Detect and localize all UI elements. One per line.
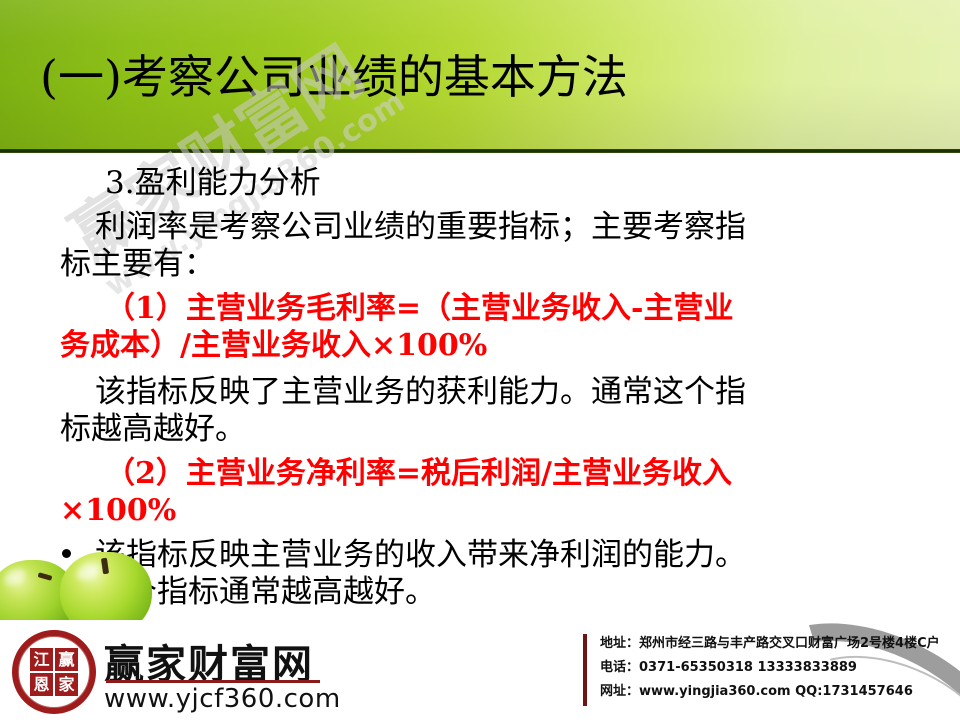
contact-label-website: 网址：	[600, 684, 639, 699]
contact-label-address: 地址：	[600, 636, 639, 651]
seal-char-2: 赢	[55, 648, 78, 671]
explain-1-line-2: 标越高越好。	[60, 412, 246, 446]
contact-row-phone: 电话：0371-65350318 13333833889	[600, 656, 960, 680]
contact-row-website: 网址：www.yingjia360.com QQ:1731457646	[600, 680, 960, 704]
contact-value-address: 郑州市经三路与丰产路交叉口财富广场2号楼4楼C户	[639, 636, 940, 651]
formula-2-line-2: ×100%	[60, 494, 176, 528]
seal-char-3: 恩	[30, 673, 53, 696]
page-title: (一)考察公司业绩的基本方法	[40, 48, 628, 106]
brand-website[interactable]: www.yjcf360.com	[104, 684, 341, 714]
contact-label-phone: 电话：	[600, 660, 639, 675]
contact-value-website[interactable]: www.yingjia360.com QQ:1731457646	[639, 684, 913, 699]
explain-1-line-1: 该指标反映了主营业务的获利能力。通常这个指	[95, 375, 746, 409]
contact-value-phone: 0371-65350318 13333833889	[639, 660, 857, 675]
presentation-slide: (一)考察公司业绩的基本方法 赢家财富网 www.yingjia360.com …	[0, 0, 960, 720]
formula-1-line-2: 务成本）/主营业务收入×100%	[60, 329, 487, 363]
formula-2-line-1: （2）主营业务净利率=税后利润/主营业务收入	[105, 457, 732, 491]
body-line-intro-1: 利润率是考察公司业绩的重要指标；主要考察指	[95, 210, 746, 244]
explain-2-line-1: 该指标反映主营业务的收入带来净利润的能力。	[95, 538, 746, 572]
brand-underline-rule	[106, 680, 320, 683]
seal-char-4: 家	[55, 673, 78, 696]
contact-divider-bar	[583, 634, 587, 706]
seal-char-1: 江	[30, 648, 53, 671]
contact-row-address: 地址：郑州市经三路与丰产路交叉口财富广场2号楼4楼C户	[600, 632, 960, 656]
apple-decoration-image	[0, 548, 170, 628]
body-line-heading: 3.盈利能力分析	[105, 166, 321, 200]
company-seal-logo: 江 赢 恩 家	[12, 630, 96, 714]
body-line-intro-2: 标主要有：	[60, 247, 215, 281]
seal-character-grid: 江 赢 恩 家	[30, 648, 78, 696]
formula-1-line-1: （1）主营业务毛利率=（主营业务收入-主营业	[105, 292, 733, 326]
contact-info-block: 地址：郑州市经三路与丰产路交叉口财富广场2号楼4楼C户 电话：0371-6535…	[600, 632, 960, 704]
